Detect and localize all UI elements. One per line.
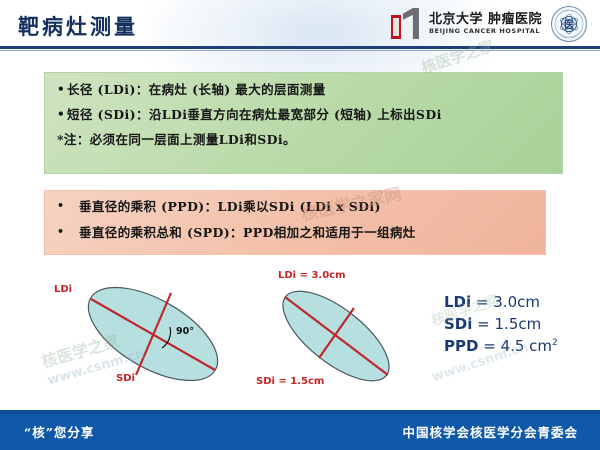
- result-ldi-key: LDi: [444, 293, 471, 311]
- slide-canvas: 靶病灶测量 北京大学 肿瘤医院 BEIJING CANCER HOSPITAL …: [0, 0, 600, 450]
- result-ppd: PPD = 4.5 cm2: [444, 336, 558, 358]
- logo-red-block: [391, 15, 401, 39]
- hospital-name-en: BEIJING CANCER HOSPITAL: [429, 28, 542, 35]
- hospital-name-block: 北京大学 肿瘤医院 BEIJING CANCER HOSPITAL: [429, 13, 542, 34]
- figure-left-ldi-label: LDi: [54, 284, 72, 295]
- orange-bullet-1: • 垂直径的乘积 (PPD)：LDi乘以SDi (LDi x SDi): [57, 199, 533, 214]
- figure-left-sdi-label: SDi: [116, 373, 135, 384]
- circular-seal-icon: 医: [550, 5, 588, 43]
- result-ppd-exponent: 2: [552, 338, 558, 348]
- page-title: 靶病灶测量: [18, 11, 138, 41]
- orange-bullet-2: • 垂直径的乘积总和 (SPD)：PPD相加之和适用于一组病灶: [57, 225, 533, 240]
- green-bullet-1: • 长径 (LDi)：在病灶 (长轴) 最大的层面测量: [57, 82, 550, 97]
- result-ppd-value: 4.5 cm: [501, 337, 552, 355]
- header-divider-rule: [0, 46, 600, 49]
- bullet-marker: •: [57, 107, 67, 121]
- result-ldi-eq: =: [471, 293, 493, 311]
- footer-right-text: 中国核学会核医学分会青委会: [402, 422, 578, 441]
- result-ppd-key: PPD: [444, 337, 478, 355]
- result-sdi: SDi = 1.5cm: [444, 314, 558, 336]
- lesion-ellipse-measured: LDi = 3.0cm SDi = 1.5cm: [258, 268, 443, 396]
- bullet-marker: •: [57, 225, 79, 238]
- footer-left-text: “核”您分享: [24, 422, 94, 441]
- green-note-text: *注：必须在同一层面上测量LDi和SDi。: [57, 132, 550, 147]
- logo-gray-block: [403, 8, 419, 39]
- bullet-marker: •: [57, 82, 67, 96]
- bullet-marker: •: [57, 199, 79, 212]
- result-ppd-eq: =: [478, 337, 500, 355]
- orange-bullet-1-text: 垂直径的乘积 (PPD)：LDi乘以SDi (LDi x SDi): [79, 199, 381, 214]
- green-bullet-1-text: 长径 (LDi)：在病灶 (长轴) 最大的层面测量: [67, 82, 326, 97]
- hospital-mark-icon: [391, 8, 421, 40]
- header-divider-rule-thin: [0, 50, 600, 51]
- measurement-results: LDi = 3.0cm SDi = 1.5cm PPD = 4.5 cm2: [444, 292, 558, 357]
- figure-right-ldi-label: LDi = 3.0cm: [278, 270, 346, 281]
- hospital-name-cn: 北京大学 肿瘤医院: [429, 13, 542, 27]
- figure-right-sdi-label: SDi = 1.5cm: [256, 376, 324, 387]
- orange-bullet-2-text: 垂直径的乘积总和 (SPD)：PPD相加之和适用于一组病灶: [79, 225, 416, 240]
- result-sdi-key: SDi: [444, 315, 472, 333]
- green-bullet-2-text: 短径 (SDi)：沿LDi垂直方向在病灶最宽部分 (短轴) 上标出SDi: [67, 107, 442, 122]
- definitions-green-panel: • 长径 (LDi)：在病灶 (长轴) 最大的层面测量 • 短径 (SDi)：沿…: [44, 72, 563, 174]
- result-ldi: LDi = 3.0cm: [444, 292, 558, 314]
- hospital-logo-group: 北京大学 肿瘤医院 BEIJING CANCER HOSPITAL 医: [391, 4, 588, 44]
- result-sdi-value: 1.5cm: [495, 315, 542, 333]
- result-ldi-value: 3.0cm: [493, 293, 540, 311]
- figure-left-angle-label: 90°: [176, 326, 194, 337]
- ppd-spd-orange-panel: • 垂直径的乘积 (PPD)：LDi乘以SDi (LDi x SDi) • 垂直…: [44, 190, 546, 255]
- green-bullet-2: • 短径 (SDi)：沿LDi垂直方向在病灶最宽部分 (短轴) 上标出SDi: [57, 107, 550, 122]
- svg-text:医: 医: [564, 19, 574, 31]
- lesion-ellipse-schematic: LDi SDi 90°: [58, 272, 248, 400]
- result-sdi-eq: =: [472, 315, 494, 333]
